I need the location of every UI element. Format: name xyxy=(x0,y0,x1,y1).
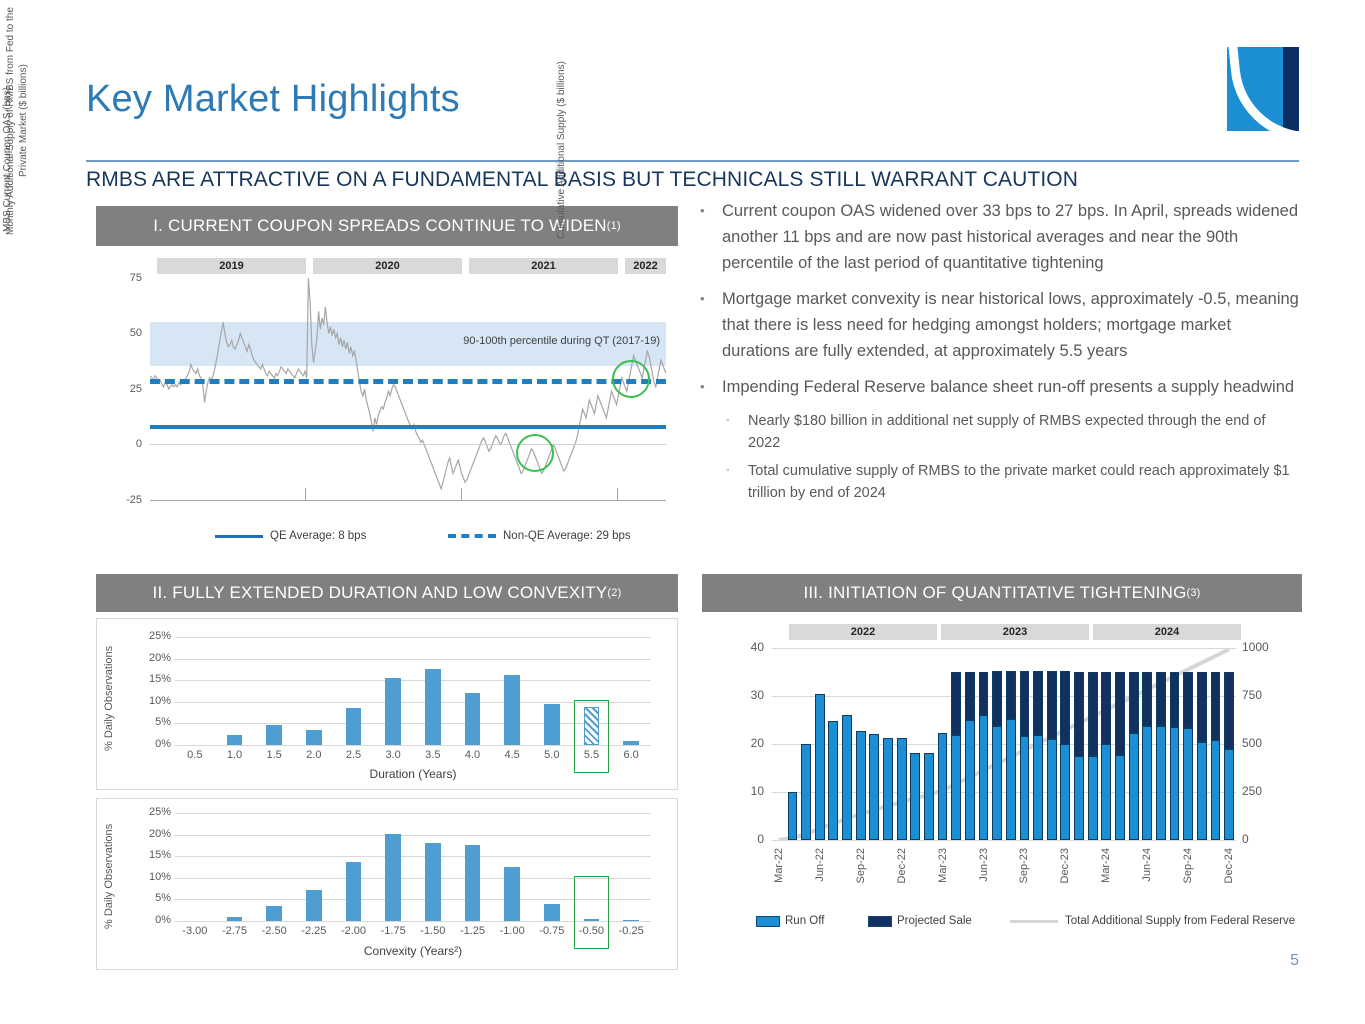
histogram-bar xyxy=(504,867,520,921)
run-off-segment xyxy=(1115,755,1125,840)
y-tick-label: 25% xyxy=(131,630,171,642)
stacked-bar xyxy=(1047,648,1057,840)
total-supply-legend-label: Total Additional Supply from Federal Res… xyxy=(1065,915,1295,927)
x-tick-label: -1.00 xyxy=(492,925,532,937)
projected-sale-segment xyxy=(1088,672,1098,757)
y-tick-label: 5% xyxy=(131,716,171,728)
projected-sale-segment xyxy=(1020,671,1030,736)
chart1-tick-2020 xyxy=(305,488,306,501)
stacked-bar xyxy=(842,648,852,840)
projected-sale-segment xyxy=(1006,671,1016,719)
stacked-bar xyxy=(1020,648,1030,840)
run-off-segment xyxy=(965,720,975,840)
y-tick-label: 5% xyxy=(131,892,171,904)
chart1-qe-average-line xyxy=(150,425,666,429)
x-tick-label: 4.0 xyxy=(453,749,493,761)
run-off-segment xyxy=(1224,749,1234,840)
chart4-x-tick-label: Sep-24 xyxy=(1182,848,1194,883)
chart-convexity-histogram: % Daily Observations 25%20%15%10%5%0% -3… xyxy=(96,798,678,970)
stacked-bar xyxy=(1088,648,1098,840)
stacked-bar xyxy=(883,648,893,840)
projected-sale-segment xyxy=(965,672,975,721)
y-tick-label: 15% xyxy=(131,849,171,861)
projected-sale-segment xyxy=(1211,672,1221,740)
projected-sale-segment xyxy=(1115,672,1125,756)
run-off-segment xyxy=(883,738,893,840)
chart1-legend-qe: QE Average: 8 bps xyxy=(215,530,366,542)
histogram-bar xyxy=(465,845,481,921)
panel-two-title: II. FULLY EXTENDED DURATION AND LOW CONV… xyxy=(153,583,608,603)
stacked-bar xyxy=(1060,648,1070,840)
y-tick-label: 15% xyxy=(131,673,171,685)
bullet-marker: ◦ xyxy=(726,460,748,482)
chart4-y-tick-label: 20 xyxy=(730,736,764,750)
nonqe-legend-label: Non-QE Average: 29 bps xyxy=(503,530,631,542)
x-tick-label: 3.5 xyxy=(413,749,453,761)
y-tick-label: 20% xyxy=(131,828,171,840)
panel-header-two: II. FULLY EXTENDED DURATION AND LOW CONV… xyxy=(96,574,678,612)
chart4-x-tick-label: Mar-22 xyxy=(773,848,785,883)
stacked-bar xyxy=(1006,648,1016,840)
y-tick-label: 10% xyxy=(131,695,171,707)
chart1-baseline xyxy=(150,500,666,501)
nonqe-line-swatch xyxy=(448,534,496,538)
stacked-bar xyxy=(897,648,907,840)
run-off-segment xyxy=(1197,742,1207,840)
chart1-ytick--25: -25 xyxy=(104,494,142,506)
run-off-segment xyxy=(1074,756,1084,840)
projected-sale-swatch xyxy=(868,916,892,927)
x-tick-label: 2.0 xyxy=(294,749,334,761)
stacked-bar xyxy=(951,648,961,840)
bullet-marker: • xyxy=(700,286,722,312)
histogram-bar xyxy=(544,904,560,921)
total-supply-swatch xyxy=(1010,920,1058,923)
panel-two-footnote: (2) xyxy=(607,587,621,599)
chart4-y-axis-label: Monthly Additional Supply of RMBS from F… xyxy=(4,6,38,236)
histogram-bar xyxy=(425,669,441,745)
run-off-segment xyxy=(1170,727,1180,840)
run-off-segment xyxy=(801,744,811,840)
projected-sale-segment xyxy=(1142,672,1152,726)
panel-three-title: III. INITIATION OF QUANTITATIVE TIGHTENI… xyxy=(803,583,1186,603)
chart1-ytick-25: 25 xyxy=(110,383,142,395)
run-off-segment xyxy=(992,726,1002,840)
x-tick-label: 1.0 xyxy=(215,749,255,761)
stacked-bar xyxy=(1115,648,1125,840)
bullet-item: •Mortgage market convexity is near histo… xyxy=(700,286,1300,364)
stacked-bar xyxy=(1224,648,1234,840)
histogram-bar xyxy=(544,704,560,745)
run-off-segment xyxy=(842,715,852,840)
chart4-plot-area xyxy=(772,648,1236,840)
run-off-segment xyxy=(1211,740,1221,840)
stacked-bar xyxy=(1170,648,1180,840)
run-off-segment xyxy=(1088,756,1098,840)
bullet-marker: ◦ xyxy=(726,410,748,432)
chart4-year-2022: 2022 xyxy=(789,624,937,640)
chart1-year-2022: 2022 xyxy=(625,258,666,274)
run-off-segment xyxy=(924,753,934,840)
run-off-segment xyxy=(815,694,825,840)
panel-one-title: I. CURRENT COUPON SPREADS CONTINUE TO WI… xyxy=(153,216,606,236)
highlight-box xyxy=(574,700,610,773)
run-off-segment xyxy=(1129,733,1139,840)
stacked-bar xyxy=(1033,648,1043,840)
projected-sale-segment xyxy=(1101,672,1111,744)
stacked-bar xyxy=(924,648,934,840)
chart4-x-tick-label: Dec-22 xyxy=(896,848,908,883)
chart4-y-tick-label: 40 xyxy=(730,640,764,654)
histogram-bar xyxy=(385,834,401,921)
chart1-ytick-0: 0 xyxy=(110,438,142,450)
company-logo xyxy=(1227,47,1299,131)
x-tick-label: -2.25 xyxy=(294,925,334,937)
chart4-legend-projected: Projected Sale xyxy=(868,915,972,927)
bullet-marker: • xyxy=(700,198,722,224)
x-tick-label: 0.5 xyxy=(175,749,215,761)
y-tick-label: 0% xyxy=(131,738,171,750)
x-tick-label: -3.00 xyxy=(175,925,215,937)
histogram-bar xyxy=(306,890,322,921)
run-off-segment xyxy=(951,735,961,840)
y-tick-label: 25% xyxy=(131,806,171,818)
histogram-bar xyxy=(623,920,639,921)
chart4-x-tick-label: Mar-24 xyxy=(1100,848,1112,883)
panel-header-one: I. CURRENT COUPON SPREADS CONTINUE TO WI… xyxy=(96,206,678,246)
bullet-text: Impending Federal Reserve balance sheet … xyxy=(722,374,1294,400)
projected-sale-segment xyxy=(1129,672,1139,734)
chart4-x-tick-label: Dec-24 xyxy=(1223,848,1235,883)
run-off-segment xyxy=(1033,735,1043,840)
bullet-marker: • xyxy=(700,374,722,400)
chart-duration-histogram: % Daily Observations 25%20%15%10%5%0% 0.… xyxy=(96,618,678,790)
stacked-bar xyxy=(869,648,879,840)
projected-sale-segment xyxy=(979,672,989,716)
header-divider xyxy=(86,160,1299,162)
chart4-x-tick-label: Jun-24 xyxy=(1141,848,1153,882)
sub-bullet-item: ◦Total cumulative supply of RMBS to the … xyxy=(700,460,1300,504)
stacked-bar xyxy=(1197,648,1207,840)
projected-sale-segment xyxy=(1156,672,1166,726)
chart1-year-2020: 2020 xyxy=(313,258,462,274)
chart4-y-axis-label-right: Cumulative Additional Supply ($ billions… xyxy=(556,14,567,239)
chart1-ytick-75: 75 xyxy=(110,272,142,284)
highlight-box xyxy=(574,876,610,949)
chart3-x-axis-title: Convexity (Years²) xyxy=(175,944,651,958)
run-off-segment xyxy=(1006,719,1016,840)
stacked-bar xyxy=(815,648,825,840)
chart1-highlight-spike xyxy=(612,360,650,398)
x-tick-label: -2.75 xyxy=(215,925,255,937)
panel-one-footnote: (1) xyxy=(607,220,621,232)
runoff-legend-label: Run Off xyxy=(785,915,824,927)
projected-sale-segment xyxy=(951,672,961,735)
chart4-y-tick-label: 30 xyxy=(730,688,764,702)
chart1-plot-area: 90-100th percentile during QT (2017-19) xyxy=(150,278,666,500)
bullet-text: Current coupon OAS widened over 33 bps t… xyxy=(722,198,1300,276)
chart4-x-tick-label: Jun-22 xyxy=(814,848,826,882)
x-tick-label: 6.0 xyxy=(611,749,651,761)
bullet-item: •Impending Federal Reserve balance sheet… xyxy=(700,374,1300,400)
run-off-segment xyxy=(938,733,948,840)
chart4-y-tick-label-right: 250 xyxy=(1242,784,1286,798)
chart4-x-tick-label: Sep-23 xyxy=(1018,848,1030,883)
x-tick-label: 4.5 xyxy=(492,749,532,761)
chart4-y-tick-label-right: 1000 xyxy=(1242,640,1286,654)
gridline xyxy=(772,840,1236,841)
chart1-ytick-50: 50 xyxy=(110,327,142,339)
run-off-segment xyxy=(1142,726,1152,840)
bullet-text: Mortgage market convexity is near histor… xyxy=(722,286,1300,364)
projected-sale-segment xyxy=(1183,672,1193,728)
histogram-bar xyxy=(266,725,282,745)
histogram-bar xyxy=(425,843,441,921)
stacked-bar xyxy=(992,648,1002,840)
chart3-y-axis-label: % Daily Observations xyxy=(103,809,115,929)
projected-sale-segment xyxy=(992,671,1002,726)
y-tick-label: 10% xyxy=(131,871,171,883)
chart1-year-2021: 2021 xyxy=(469,258,618,274)
chart4-y-tick-label: 0 xyxy=(730,832,764,846)
stacked-bar xyxy=(1101,648,1111,840)
run-off-segment xyxy=(1047,739,1057,840)
qe-line-swatch xyxy=(215,535,263,538)
x-tick-label: -1.75 xyxy=(373,925,413,937)
stacked-bar xyxy=(788,648,798,840)
chart2-x-axis-title: Duration (Years) xyxy=(175,767,651,781)
stacked-bar xyxy=(1142,648,1152,840)
projected-sale-segment xyxy=(1170,672,1180,728)
chart4-y-tick-label-right: 0 xyxy=(1242,832,1286,846)
stacked-bar xyxy=(1183,648,1193,840)
chart1-line-series xyxy=(150,278,666,500)
stacked-bar xyxy=(1156,648,1166,840)
histogram-bar xyxy=(346,708,362,745)
chart1-tick-2022 xyxy=(617,488,618,501)
run-off-segment xyxy=(856,731,866,840)
y-tick-label: 0% xyxy=(131,914,171,926)
bullet-text: Total cumulative supply of RMBS to the p… xyxy=(748,460,1300,504)
chart4-y-tick-label: 10 xyxy=(730,784,764,798)
x-tick-label: 1.5 xyxy=(254,749,294,761)
chart4-x-tick-label: Jun-23 xyxy=(978,848,990,882)
projected-sale-segment xyxy=(1074,672,1084,757)
projected-sale-segment xyxy=(1224,672,1234,749)
panel-three-footnote: (3) xyxy=(1187,587,1201,599)
histogram-bar xyxy=(227,735,243,745)
chart4-y-tick-label-right: 750 xyxy=(1242,688,1286,702)
chart4-legend-total: Total Additional Supply from Federal Res… xyxy=(1010,915,1295,927)
stacked-bar xyxy=(910,648,920,840)
histogram-bar xyxy=(306,730,322,745)
run-off-segment xyxy=(1020,736,1030,840)
stacked-bar xyxy=(965,648,975,840)
histogram-bar xyxy=(504,675,520,745)
projected-sale-segment xyxy=(1047,671,1057,739)
histogram-bar xyxy=(385,678,401,745)
x-tick-label: -0.75 xyxy=(532,925,572,937)
run-off-segment xyxy=(869,734,879,840)
stacked-bar xyxy=(979,648,989,840)
bullet-text: Nearly $180 billion in additional net su… xyxy=(748,410,1300,454)
chart4-year-2023: 2023 xyxy=(941,624,1089,640)
chart1-tick-2021 xyxy=(461,488,462,501)
chart1-highlight-trough xyxy=(516,434,554,472)
x-tick-label: -1.25 xyxy=(453,925,493,937)
projected-sale-segment xyxy=(1060,671,1070,744)
chart2-y-axis-label: % Daily Observations xyxy=(103,631,115,751)
histogram-bar xyxy=(623,741,639,745)
page-title: Key Market Highlights xyxy=(86,78,460,121)
chart4-y-tick-label-right: 500 xyxy=(1242,736,1286,750)
x-tick-label: -1.50 xyxy=(413,925,453,937)
chart4-legend-runoff: Run Off xyxy=(756,915,824,927)
stacked-bar xyxy=(938,648,948,840)
histogram-bar xyxy=(227,917,243,921)
stacked-bar xyxy=(856,648,866,840)
chart4-x-tick-label: Mar-23 xyxy=(937,848,949,883)
histogram-bar xyxy=(266,906,282,921)
projected-sale-segment xyxy=(1033,671,1043,735)
y-tick-label: 20% xyxy=(131,652,171,664)
chart1-legend-nonqe: Non-QE Average: 29 bps xyxy=(448,530,631,542)
panel-header-three: III. INITIATION OF QUANTITATIVE TIGHTENI… xyxy=(702,574,1302,612)
run-off-segment xyxy=(897,738,907,840)
histogram-bar xyxy=(346,862,362,921)
x-tick-label: -2.50 xyxy=(254,925,294,937)
stacked-bar xyxy=(828,648,838,840)
run-off-segment xyxy=(979,715,989,840)
chart1-year-2019: 2019 xyxy=(157,258,306,274)
page-number: 5 xyxy=(1290,952,1299,970)
page-subtitle: RMBS ARE ATTRACTIVE ON A FUNDAMENTAL BAS… xyxy=(86,168,1078,192)
stacked-bar xyxy=(1129,648,1139,840)
stacked-bar xyxy=(801,648,811,840)
runoff-swatch xyxy=(756,916,780,927)
chart4-year-2024: 2024 xyxy=(1093,624,1241,640)
x-tick-label: 2.5 xyxy=(334,749,374,761)
qe-legend-label: QE Average: 8 bps xyxy=(270,530,366,542)
histogram-bar xyxy=(465,693,481,745)
chart4-x-tick-label: Dec-23 xyxy=(1059,848,1071,883)
run-off-segment xyxy=(1156,726,1166,840)
bullet-item: •Current coupon OAS widened over 33 bps … xyxy=(700,198,1300,276)
bullet-list: •Current coupon OAS widened over 33 bps … xyxy=(700,198,1300,510)
run-off-segment xyxy=(910,753,920,840)
run-off-segment xyxy=(1101,744,1111,840)
sub-bullet-item: ◦Nearly $180 billion in additional net s… xyxy=(700,410,1300,454)
chart1-zero-line xyxy=(150,444,666,445)
x-tick-label: -0.25 xyxy=(611,925,651,937)
chart4-x-tick-label: Sep-22 xyxy=(855,848,867,883)
run-off-segment xyxy=(788,792,798,840)
x-tick-label: 3.0 xyxy=(373,749,413,761)
x-tick-label: 5.0 xyxy=(532,749,572,761)
run-off-segment xyxy=(828,721,838,840)
stacked-bar xyxy=(1211,648,1221,840)
x-tick-label: -2.00 xyxy=(334,925,374,937)
run-off-segment xyxy=(1183,728,1193,840)
projected-legend-label: Projected Sale xyxy=(897,915,972,927)
stacked-bar xyxy=(1074,648,1084,840)
chart1-nonqe-average-line xyxy=(150,379,666,384)
projected-sale-segment xyxy=(1197,672,1207,743)
run-off-segment xyxy=(1060,744,1070,840)
